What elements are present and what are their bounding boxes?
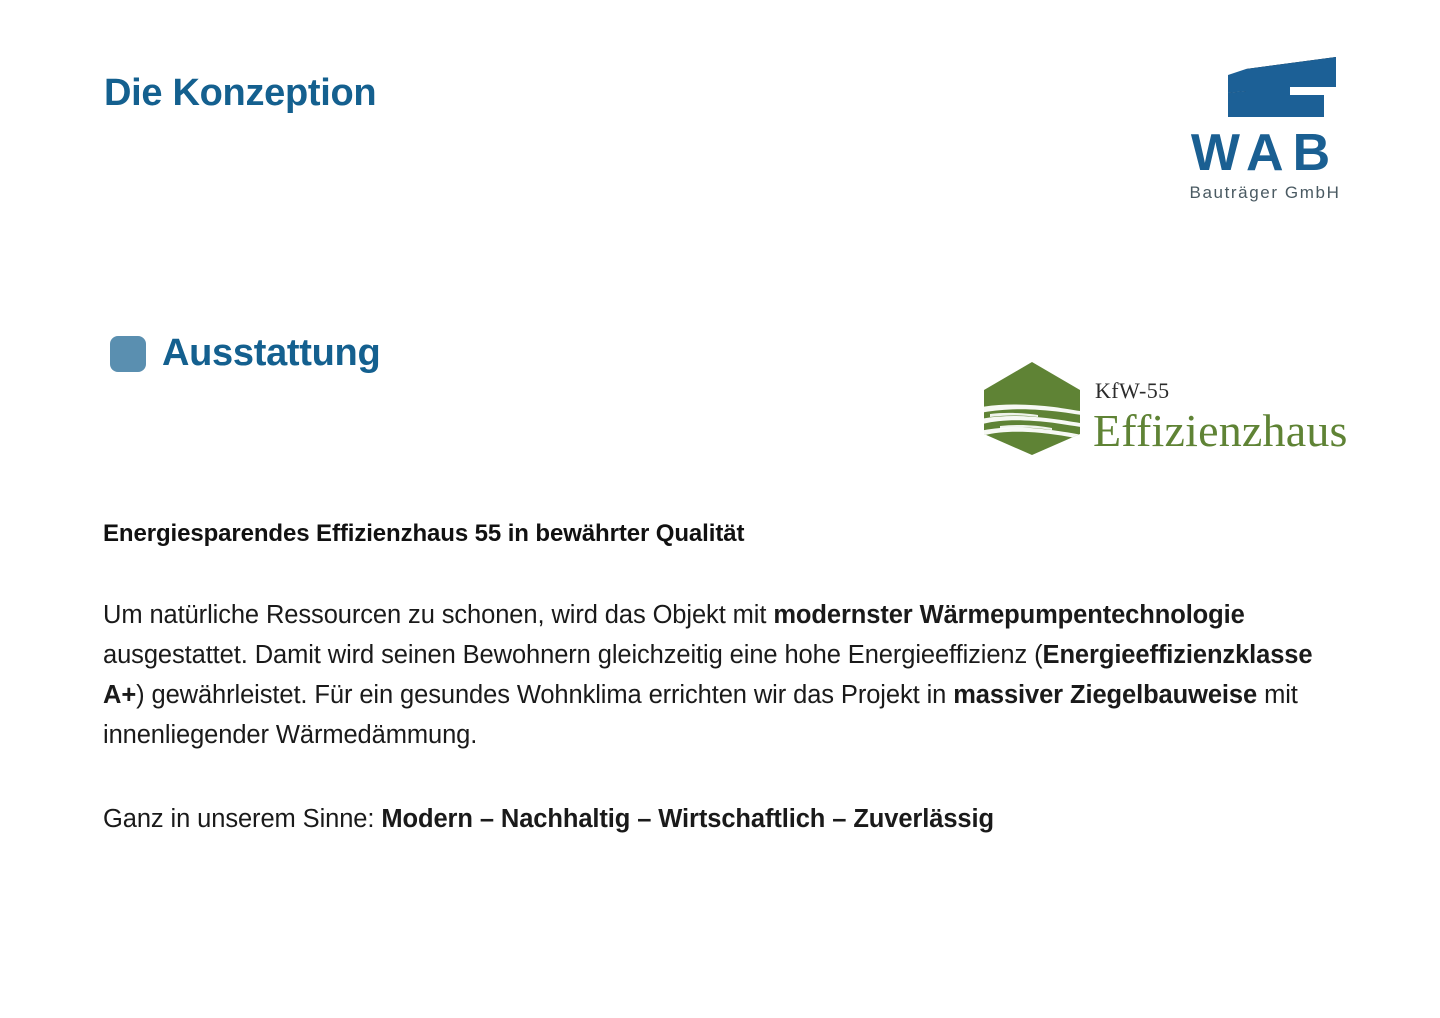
section-heading: Ausstattung <box>110 332 380 375</box>
closing-prefix: Ganz in unserem Sinne: <box>103 805 381 833</box>
paragraph-segment-3: ) gewährleistet. Für ein gesundes Wohnkl… <box>136 681 953 709</box>
kfw-house-hexagon-icon <box>980 360 1084 457</box>
paragraph-segment-1: Um natürliche Ressourcen zu schonen, wir… <box>103 601 773 629</box>
paragraph-bold-1: modernster Wärmepumpentechnologie <box>773 601 1244 629</box>
section-heading-label: Ausstattung <box>162 332 380 375</box>
page-title: Die Konzeption <box>104 72 376 115</box>
rounded-square-bullet-icon <box>110 336 146 372</box>
kfw-effizienzhaus-badge: KfW-55 Effizienzhaus <box>980 360 1340 460</box>
main-paragraph: Um natürliche Ressourcen zu schonen, wir… <box>103 595 1333 755</box>
kfw-class-label: KfW-55 <box>1095 378 1170 404</box>
closing-paragraph: Ganz in unserem Sinne: Modern – Nachhalt… <box>103 799 1333 839</box>
kfw-name-label: Effizienzhaus <box>1093 404 1348 457</box>
wab-wordmark: WAB <box>1160 127 1370 179</box>
paragraph-bold-3: massiver Ziegelbauweise <box>953 681 1257 709</box>
body-copy: Energiesparendes Effizienzhaus 55 in bew… <box>103 518 1333 839</box>
paragraph-segment-2: ausgestattet. Damit wird seinen Bewohner… <box>103 641 1043 669</box>
lead-paragraph: Energiesparendes Effizienzhaus 55 in bew… <box>103 518 1333 549</box>
wab-subtitle: Bauträger GmbH <box>1160 183 1370 203</box>
wab-building-mark-icon <box>1188 55 1348 125</box>
wab-logo: WAB Bauträger GmbH <box>1160 55 1370 205</box>
closing-slogan: Modern – Nachhaltig – Wirtschaftlich – Z… <box>381 805 994 833</box>
